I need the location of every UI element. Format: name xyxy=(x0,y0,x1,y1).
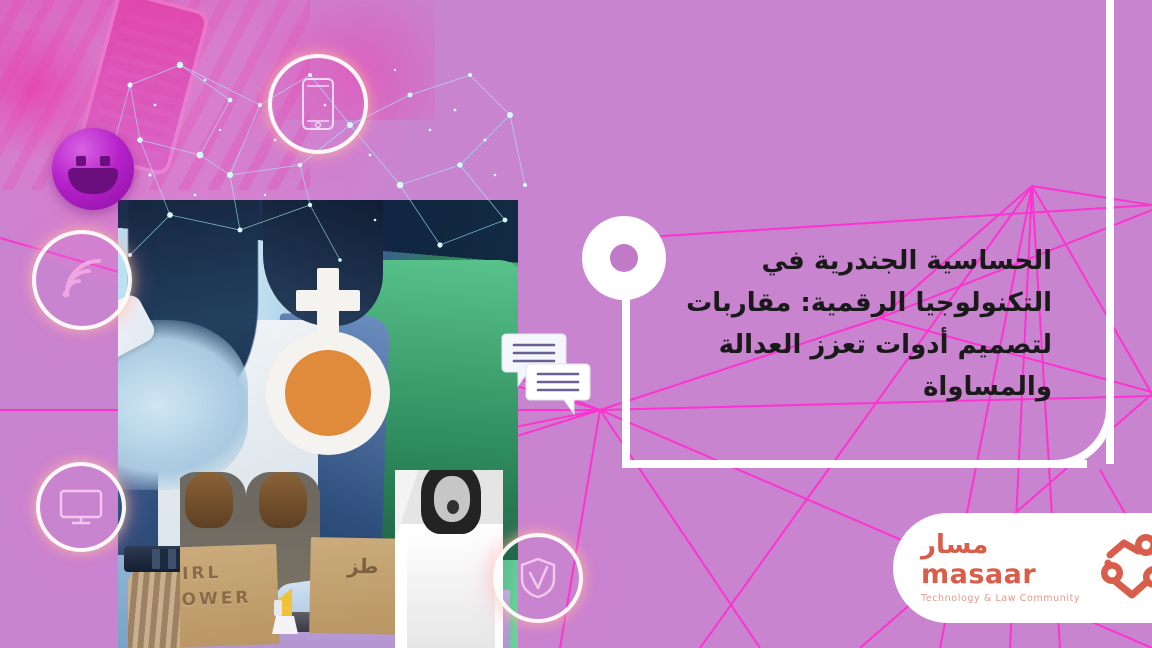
emoji-eye-right xyxy=(100,156,110,166)
face xyxy=(434,476,470,522)
hair xyxy=(185,472,233,528)
logo-latin: masaar xyxy=(921,561,1036,588)
banner-canvas: GIRL POWER طز xyxy=(0,0,1152,648)
shield-check-icon[interactable] xyxy=(497,537,579,619)
frame-edge-bottom xyxy=(622,460,1087,468)
smiley-emoji-icon[interactable] xyxy=(52,128,134,210)
emoji-mouth xyxy=(68,168,118,194)
masaar-logo[interactable]: مسار masaar Technology & Law Community xyxy=(893,513,1152,623)
monitor-icon[interactable] xyxy=(40,466,122,548)
logo-tagline: Technology & Law Community xyxy=(921,593,1080,604)
title-line-3: لتصميم أدوات تعزز العدالة xyxy=(622,324,1052,366)
shield-glyph xyxy=(519,557,557,599)
protester-with-bullhorn xyxy=(395,470,503,648)
frame-corner-round xyxy=(1042,396,1114,468)
protest-sign-1-text: GIRL POWER xyxy=(180,558,273,614)
page-title: الحساسية الجندرية في التكنولوجيا الرقمية… xyxy=(622,240,1052,408)
wifi-glyph xyxy=(59,259,105,301)
smartphone-glyph xyxy=(301,77,335,131)
title-line-2: التكنولوجيا الرقمية: مقاربات xyxy=(622,282,1052,324)
frame-edge-right xyxy=(1106,0,1114,464)
women-protest-photo: GIRL POWER طز xyxy=(180,470,510,648)
title-line-4: والمساواة xyxy=(622,366,1052,408)
masaar-network-mark-icon xyxy=(1094,533,1152,603)
logo-text-block: مسار masaar Technology & Law Community xyxy=(921,532,1080,604)
smartphone-icon[interactable] xyxy=(272,58,364,150)
protest-sign-girl-power: GIRL POWER xyxy=(180,544,280,648)
monitor-glyph xyxy=(59,489,103,525)
wifi-signal-icon[interactable] xyxy=(36,234,128,326)
logo-inner: مسار masaar Technology & Law Community xyxy=(921,532,1152,604)
title-line-1: الحساسية الجندرية في xyxy=(622,240,1052,282)
megaphone-icon xyxy=(268,582,302,634)
hair xyxy=(259,472,307,528)
chat-bubbles-icon[interactable] xyxy=(500,330,592,420)
logo-arabic: مسار xyxy=(921,532,988,558)
emoji-eye-left xyxy=(76,156,86,166)
venus-gender-symbol-icon xyxy=(262,268,394,458)
shouting-mouth xyxy=(447,500,459,514)
body xyxy=(407,526,495,648)
